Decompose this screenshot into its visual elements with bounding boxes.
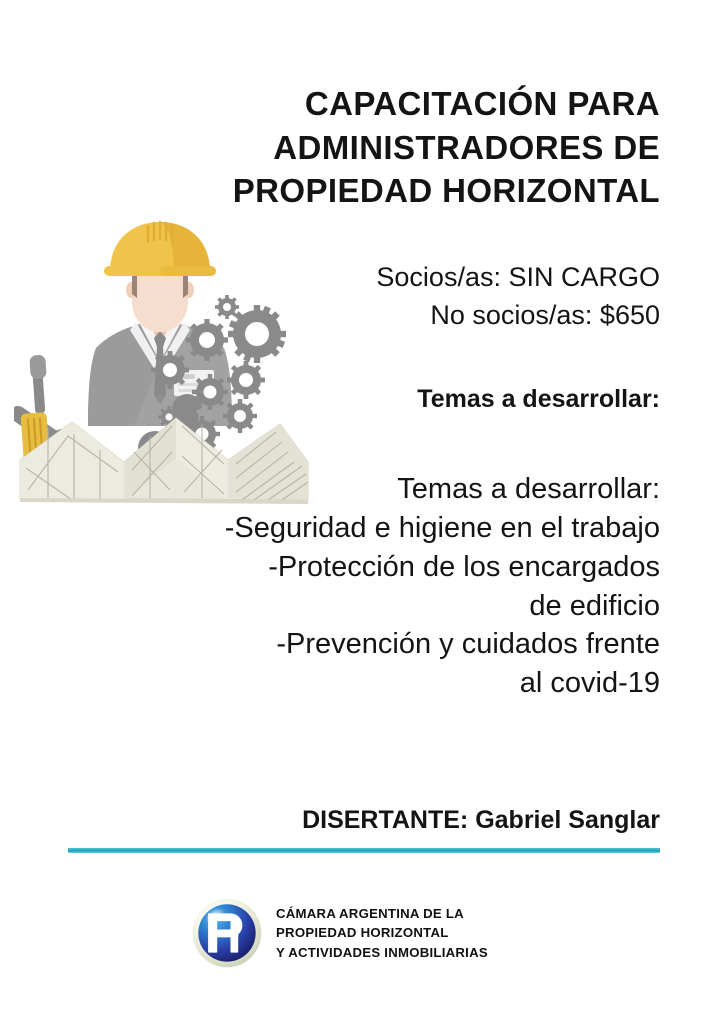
topics-block: Temas a desarrollar: -Seguridad e higien… xyxy=(40,470,660,703)
accent-divider xyxy=(68,848,660,853)
price-non-members: No socios/as: $650 xyxy=(60,296,660,334)
logo-text: CÁMARA ARGENTINA DE LA PROPIEDAD HORIZON… xyxy=(276,904,488,962)
title-line-1: CAPACITACIÓN PARA xyxy=(60,82,660,126)
page-title: CAPACITACIÓN PARA ADMINISTRADORES DE PRO… xyxy=(60,82,660,213)
topic-line-5: al covid-19 xyxy=(40,664,660,703)
topics-subhead: Temas a desarrollar: xyxy=(60,385,660,414)
flyer-canvas: CAPACITACIÓN PARA ADMINISTRADORES DE PRO… xyxy=(0,0,720,1018)
pricing-block: Socios/as: SIN CARGO No socios/as: $650 xyxy=(60,258,660,335)
ph-sphere-logo-icon xyxy=(192,898,262,968)
engineer-illustration xyxy=(14,212,314,507)
logo-text-line-1: CÁMARA ARGENTINA DE LA xyxy=(276,904,488,923)
topic-line-4: -Prevención y cuidados frente xyxy=(40,625,660,664)
topic-line-1: -Seguridad e higiene en el trabajo xyxy=(40,509,660,548)
topic-line-2: -Protección de los encargados xyxy=(40,548,660,587)
speaker-label: DISERTANTE: Gabriel Sanglar xyxy=(60,806,660,835)
topic-line-3: de edificio xyxy=(40,587,660,626)
title-line-2: ADMINISTRADORES DE xyxy=(60,126,660,170)
organization-logo: CÁMARA ARGENTINA DE LA PROPIEDAD HORIZON… xyxy=(192,898,488,968)
topics-heading: Temas a desarrollar: xyxy=(40,470,660,509)
price-members: Socios/as: SIN CARGO xyxy=(60,258,660,296)
logo-text-line-2: PROPIEDAD HORIZONTAL xyxy=(276,923,488,942)
title-line-3: PROPIEDAD HORIZONTAL xyxy=(60,169,660,213)
logo-text-line-3: Y ACTIVIDADES INMOBILIARIAS xyxy=(276,943,488,962)
